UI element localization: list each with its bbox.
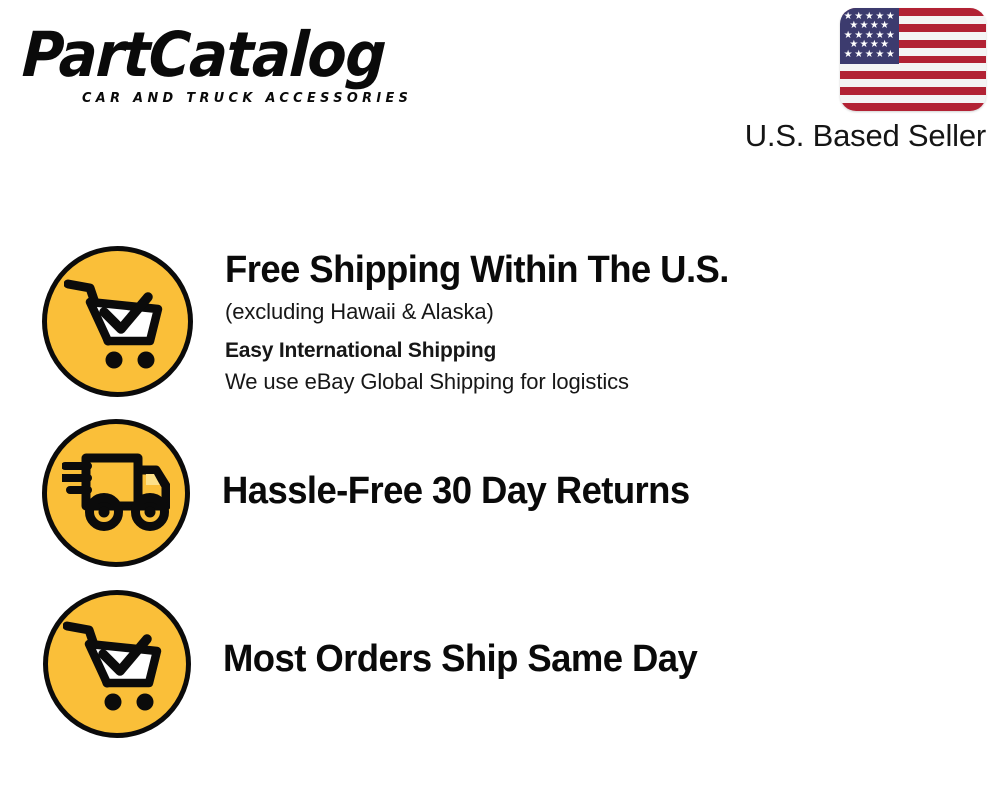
flag-stripe (840, 103, 986, 111)
flag-stripe (840, 87, 986, 95)
flag-star-icon: ★ (865, 51, 874, 59)
page-header: PartCatalog CAR AND TRUCK ACCESSORIES ★★… (0, 0, 1000, 170)
shopping-cart-check-icon (43, 590, 191, 738)
feature-row: Hassle-Free 30 Day Returns (0, 419, 1000, 571)
feature-heading: Hassle-Free 30 Day Returns (222, 469, 969, 513)
flag-stripe (840, 71, 986, 79)
flag-star-icon: ★ (875, 51, 884, 59)
flag-star-icon: ★ (886, 51, 895, 59)
flag-stripe (840, 79, 986, 87)
us-based-seller-label: U.S. Based Seller (745, 118, 986, 154)
flag-star-icon: ★ (860, 22, 869, 30)
feature-heading: Most Orders Ship Same Day (223, 637, 969, 681)
flag-canton: ★★★★★★★★★★★★★★★★★★★★★★★ (840, 8, 899, 64)
flag-stripe (840, 95, 986, 103)
flag-stripe (840, 63, 986, 71)
flag-star-icon: ★ (849, 22, 858, 30)
feature-text-block: Most Orders Ship Same Day (223, 590, 1000, 681)
brand-tagline: CAR AND TRUCK ACCESSORIES (82, 90, 473, 106)
feature-heading: Free Shipping Within The U.S. (225, 248, 969, 292)
us-flag-icon: ★★★★★★★★★★★★★★★★★★★★★★★ (840, 8, 986, 111)
feature-text-block: Hassle-Free 30 Day Returns (222, 419, 1000, 513)
feature-row: Most Orders Ship Same Day (0, 590, 1000, 742)
feature-row: Free Shipping Within The U.S. (excluding… (0, 246, 1000, 406)
flag-star-icon: ★ (880, 22, 889, 30)
brand-wordmark: PartCatalog (21, 22, 457, 88)
feature-subtext: We use eBay Global Shipping for logistic… (225, 366, 1000, 397)
brand-logo[interactable]: PartCatalog CAR AND TRUCK ACCESSORIES (24, 22, 494, 117)
flag-star-icon: ★ (844, 51, 853, 59)
delivery-truck-icon (42, 419, 190, 567)
feature-text-block: Free Shipping Within The U.S. (excluding… (225, 246, 1000, 397)
shopping-cart-check-icon (42, 246, 193, 397)
flag-star-icon: ★ (854, 51, 863, 59)
feature-subheading: Easy International Shipping (225, 335, 1000, 366)
flag-star-row: ★★★★ (842, 22, 897, 30)
flag-star-icon: ★ (870, 22, 879, 30)
feature-subtext: (excluding Hawaii & Alaska) (225, 296, 1000, 327)
flag-star-row: ★★★★★ (842, 51, 897, 59)
